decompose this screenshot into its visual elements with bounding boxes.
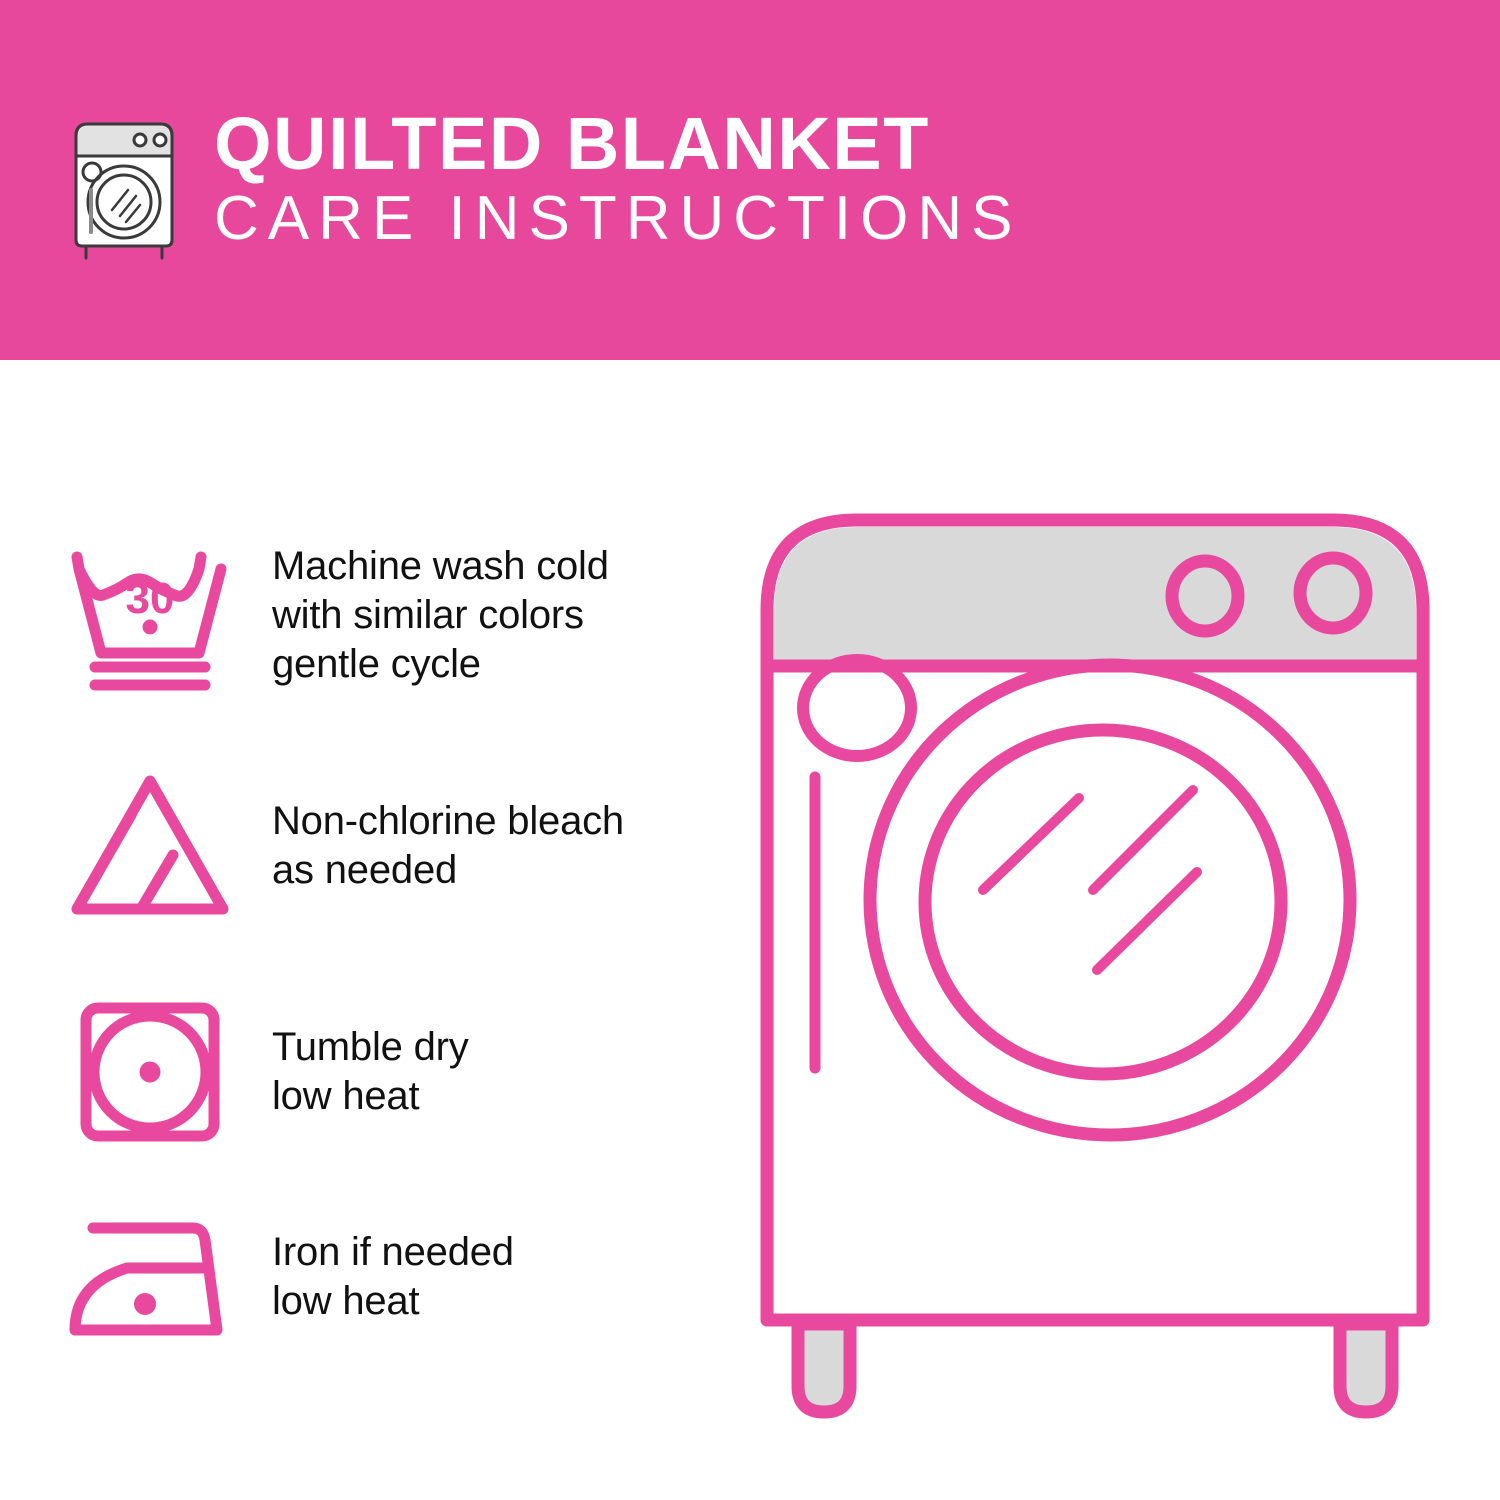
header-content: QUILTED BLANKET CARE INSTRUCTIONS bbox=[62, 104, 1500, 262]
care-row-wash: 30 Machine wash cold with similar colors… bbox=[60, 500, 720, 730]
care-line: low heat bbox=[272, 1072, 720, 1121]
page-title: QUILTED BLANKET bbox=[214, 102, 930, 185]
wash-tub-30-gentle-icon: 30 bbox=[60, 535, 240, 695]
front-load-washing-machine-illustration bbox=[735, 490, 1455, 1450]
tumble-dry-low-icon bbox=[60, 997, 240, 1147]
top-control-panel bbox=[774, 527, 1416, 662]
header-titles: QUILTED BLANKET CARE INSTRUCTIONS bbox=[214, 104, 1500, 254]
care-line: with similar colors bbox=[272, 591, 720, 640]
care-row-bleach: Non-chlorine bleach as needed bbox=[60, 730, 720, 962]
care-instruction-list: 30 Machine wash cold with similar colors… bbox=[60, 500, 720, 1372]
care-text-bleach: Non-chlorine bleach as needed bbox=[272, 797, 720, 895]
leg-left bbox=[798, 1324, 850, 1412]
care-line: Non-chlorine bleach bbox=[272, 797, 720, 846]
care-line: low heat bbox=[272, 1277, 720, 1326]
wash-temperature-label: 30 bbox=[126, 574, 175, 623]
leg-right bbox=[1340, 1324, 1392, 1412]
care-line: Iron if needed bbox=[272, 1228, 720, 1277]
care-text-tumble-dry: Tumble dry low heat bbox=[272, 1023, 720, 1121]
care-row-iron: Iron if needed low heat bbox=[60, 1182, 720, 1372]
care-text-wash: Machine wash cold with similar colors ge… bbox=[272, 542, 720, 689]
care-line: as needed bbox=[272, 846, 720, 895]
care-line: Machine wash cold bbox=[272, 542, 720, 591]
page-subtitle: CARE INSTRUCTIONS bbox=[214, 184, 1021, 253]
care-text-iron: Iron if needed low heat bbox=[272, 1228, 720, 1326]
care-line: Tumble dry bbox=[272, 1023, 720, 1072]
non-chlorine-bleach-triangle-icon bbox=[60, 771, 240, 921]
care-instructions-poster: QUILTED BLANKET CARE INSTRUCTIONS 30 bbox=[0, 0, 1500, 1500]
header-banner: QUILTED BLANKET CARE INSTRUCTIONS bbox=[0, 0, 1500, 360]
care-row-tumble-dry: Tumble dry low heat bbox=[60, 962, 720, 1182]
washing-machine-icon bbox=[62, 110, 186, 262]
care-line: gentle cycle bbox=[272, 640, 720, 689]
iron-low-heat-icon bbox=[60, 1212, 240, 1342]
